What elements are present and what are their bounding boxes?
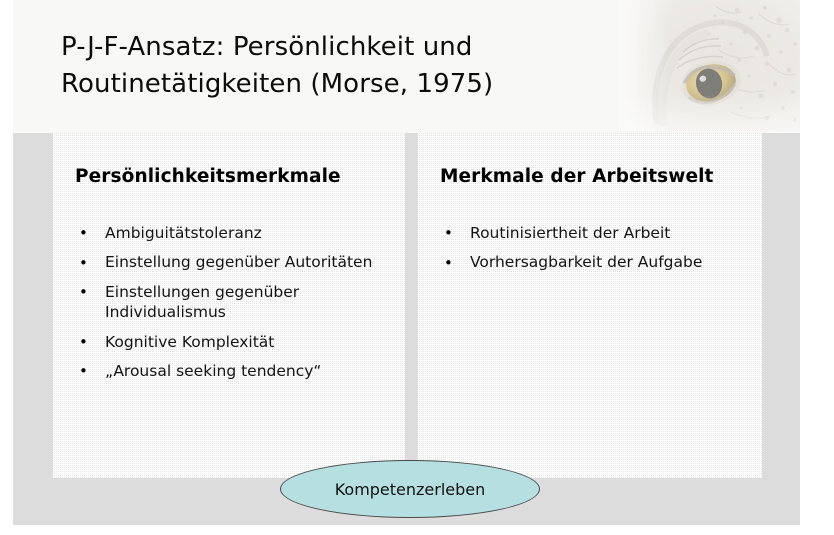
list-item-label: Einstellungen gegenüber Individualismus — [105, 283, 299, 321]
list-item: • Einstellung gegenüber Autoritäten — [67, 252, 397, 272]
callout-label: Kompetenzerleben — [335, 480, 486, 499]
bullet-list-personality: • Ambiguitätstoleranz • Einstellung gege… — [67, 223, 397, 391]
list-item-label: „Arousal seeking tendency“ — [105, 362, 321, 380]
list-item-label: Vorhersagbarkeit der Aufgabe — [470, 253, 702, 271]
page-title: P-J-F-Ansatz: Persönlichkeit und Routine… — [61, 29, 621, 103]
slide-canvas: P-J-F-Ansatz: Persönlichkeit und Routine… — [0, 0, 834, 535]
bullet-icon: • — [444, 254, 453, 274]
bullet-icon: • — [79, 333, 88, 353]
list-item-label: Kognitive Komplexität — [105, 333, 274, 351]
list-item-label: Ambiguitätstoleranz — [105, 224, 262, 242]
list-item: • Routinisiertheit der Arbeit — [432, 223, 762, 243]
bullet-icon: • — [79, 224, 88, 244]
column-personality: Persönlichkeitsmerkmale • Ambiguitätstol… — [53, 133, 405, 478]
column-heading-personality: Persönlichkeitsmerkmale — [75, 166, 341, 187]
list-item: • Vorhersagbarkeit der Aufgabe — [432, 252, 762, 272]
bullet-icon: • — [79, 283, 88, 303]
bullet-icon: • — [444, 224, 453, 244]
column-work-environment: Merkmale der Arbeitswelt • Routinisierth… — [418, 133, 762, 478]
list-item-label: Routinisiertheit der Arbeit — [470, 224, 670, 242]
bullet-icon: • — [79, 254, 88, 274]
column-heading-work-environment: Merkmale der Arbeitswelt — [440, 166, 713, 187]
bullet-icon: • — [79, 362, 88, 382]
list-item: • Kognitive Komplexität — [67, 332, 397, 352]
list-item: • „Arousal seeking tendency“ — [67, 361, 397, 381]
list-item: • Ambiguitätstoleranz — [67, 223, 397, 243]
list-item-label: Einstellung gegenüber Autoritäten — [105, 253, 372, 271]
callout-ellipse-kompetenzerleben: Kompetenzerleben — [280, 460, 540, 518]
bullet-list-work-environment: • Routinisiertheit der Arbeit • Vorhersa… — [432, 223, 762, 282]
list-item: • Einstellungen gegenüber Individualismu… — [67, 282, 397, 323]
owl-eye-photo — [619, 0, 800, 131]
